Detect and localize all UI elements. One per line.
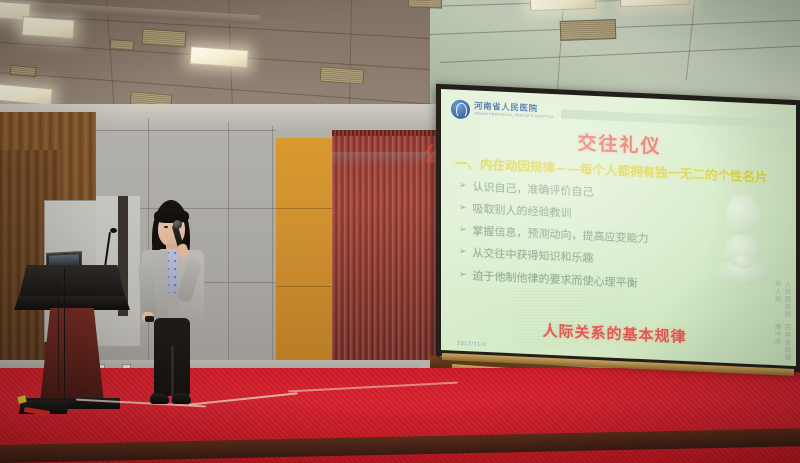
shoe-right bbox=[172, 393, 191, 404]
wall-seam bbox=[228, 122, 229, 366]
bullet-arrow-icon: ➢ bbox=[459, 268, 467, 280]
projection-screen[interactable]: 河南省人民医院 HENAN PROVINCIAL PEOPLE'S HOSPIT… bbox=[441, 89, 796, 366]
ceiling-air-vent bbox=[560, 19, 617, 41]
bullet-text: 认识自己，准确评价自己 bbox=[473, 180, 594, 199]
lectern-body bbox=[40, 308, 104, 403]
shoe-left bbox=[150, 393, 169, 404]
microphone-head-icon bbox=[173, 220, 182, 229]
lectern-cable-2 bbox=[58, 282, 59, 394]
bullet-text: 吸取别人的经验教训 bbox=[473, 202, 572, 220]
lectern-top bbox=[18, 265, 126, 301]
slide-vertical-slogan: 人民医院服务人民 百年省医健康中原 bbox=[772, 280, 792, 365]
presentation-slide: 河南省人民医院 HENAN PROVINCIAL PEOPLE'S HOSPIT… bbox=[441, 89, 796, 366]
ceiling-air-vent bbox=[110, 39, 135, 51]
bullet-arrow-icon: ➢ bbox=[459, 180, 467, 192]
ceiling-air-vent bbox=[320, 66, 365, 84]
podium-microphone-icon bbox=[110, 228, 117, 233]
wall-seam bbox=[96, 130, 276, 131]
ceiling-light-panel bbox=[21, 16, 74, 39]
presenter-person bbox=[130, 200, 216, 416]
ceiling-air-vent bbox=[408, 0, 442, 9]
hospital-logo-icon bbox=[451, 99, 470, 119]
bullet-arrow-icon: ➢ bbox=[459, 246, 467, 258]
ceiling-air-vent bbox=[10, 65, 37, 77]
lectern-shelf bbox=[14, 296, 130, 310]
presentation-clicker[interactable] bbox=[145, 316, 154, 322]
projection-screen-frame: 河南省人民医院 HENAN PROVINCIAL PEOPLE'S HOSPIT… bbox=[436, 84, 800, 373]
vertical-slogan-right: 人民医院服务人民 bbox=[772, 280, 792, 322]
slide-date-stamp: 2017/11/3 bbox=[457, 341, 486, 348]
wall-panel-ochre bbox=[276, 138, 336, 366]
bullet-arrow-icon: ➢ bbox=[459, 202, 467, 214]
ceiling-air-vent bbox=[141, 28, 186, 47]
meditating-figure-graphic bbox=[712, 193, 774, 316]
wall-seam bbox=[272, 126, 273, 366]
slide-header-bar bbox=[561, 109, 788, 128]
presentation-room-photo: 公 河南省人民医院 HENAN PROVINCIAL PEOPLE'S HOSP… bbox=[0, 0, 800, 463]
bullet-text: 从交往中获得知识和乐趣 bbox=[473, 247, 594, 266]
hair-bangs bbox=[154, 208, 189, 223]
bullet-text: 掌握信息，预测动向，提高应变能力 bbox=[473, 225, 649, 246]
bullet-arrow-icon: ➢ bbox=[459, 224, 467, 236]
